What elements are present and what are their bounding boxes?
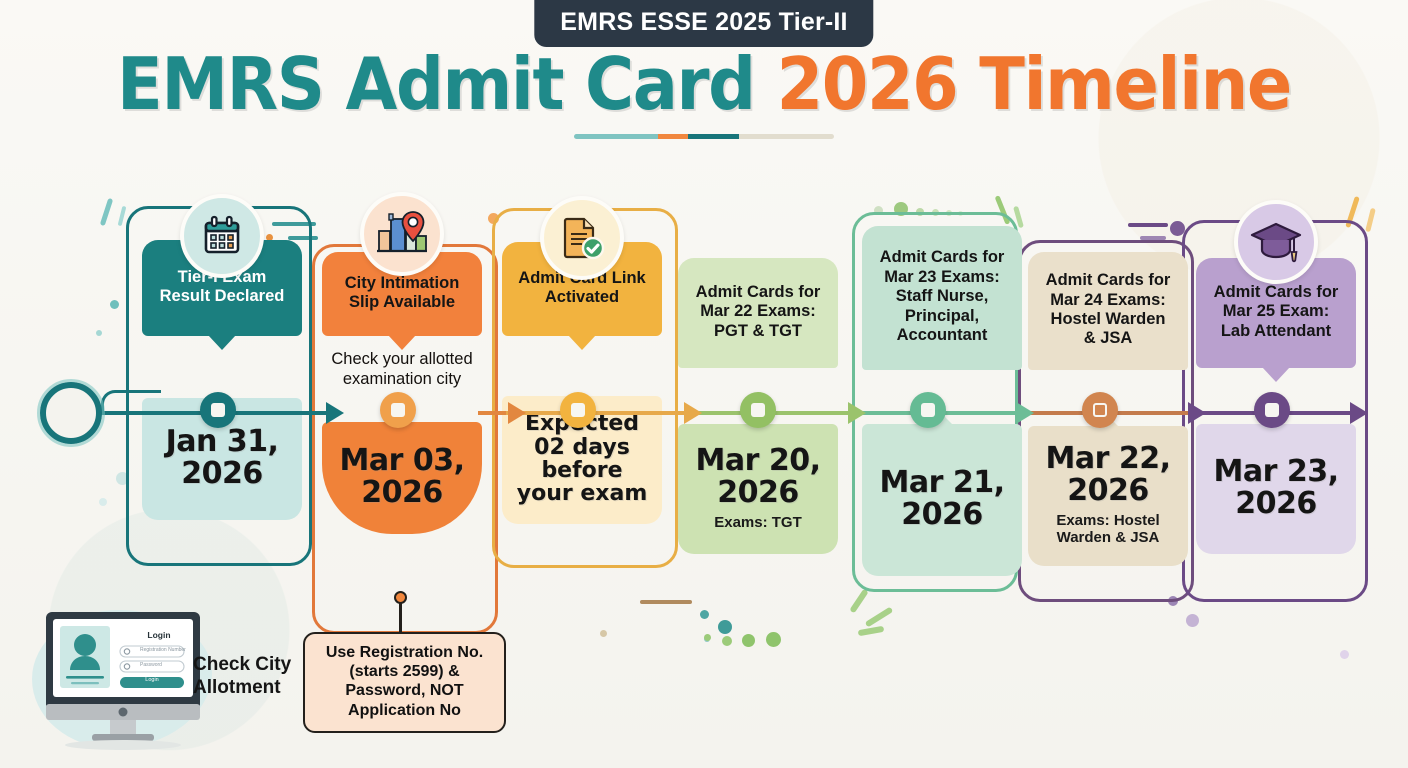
step-6-date-block: Mar 22, 2026 Exams: Hostel Warden & JSA <box>1028 426 1188 566</box>
calendar-icon <box>198 212 246 260</box>
step-4-title: Admit Cards for Mar 22 Exams: PGT & TGT <box>678 258 838 368</box>
title-divider <box>574 134 834 139</box>
rail-arrow-2 <box>508 402 526 424</box>
timeline-start-marker <box>40 382 102 444</box>
page-title: EMRS Admit Card 2026 Timeline <box>0 48 1408 139</box>
document-check-icon-bubble <box>540 196 624 280</box>
step-7-date: Mar 23, 2026 <box>1214 456 1339 520</box>
step-1-date: Jan 31, 2026 <box>166 426 279 490</box>
step-4-date-block: Mar 20, 2026 Exams: TGT <box>678 424 838 554</box>
step-6-title: Admit Cards for Mar 24 Exams: Hostel War… <box>1028 252 1188 370</box>
timeline-node-6[interactable] <box>1082 392 1118 428</box>
timeline-node-4[interactable] <box>740 392 776 428</box>
callout-connector <box>399 600 402 632</box>
graduation-cap-icon-bubble <box>1234 200 1318 284</box>
callout-anchor-dot <box>394 591 407 604</box>
check-city-allotment-label: Check City Allotment <box>193 654 291 700</box>
step-2-date: Mar 03, 2026 <box>340 445 465 509</box>
step-5-date-block: Mar 21, 2026 <box>862 424 1022 576</box>
rail-arrow-6 <box>1188 402 1206 424</box>
monitor-login-title: Login <box>131 630 187 640</box>
step-6-subnote: Exams: Hostel Warden & JSA <box>1056 512 1159 547</box>
city-pin-icon <box>375 209 429 259</box>
monitor-password-field[interactable]: Password <box>140 662 162 668</box>
step-4-date: Mar 20, 2026 <box>696 445 821 509</box>
step-4-subnote: Exams: TGT <box>714 514 802 531</box>
rail-arrow-3 <box>684 402 702 424</box>
rail-arrow-5 <box>1016 402 1034 424</box>
rail-arrow-1 <box>326 402 344 424</box>
graduation-cap-icon <box>1248 218 1304 266</box>
title-primary: EMRS Admit Card <box>117 42 777 126</box>
timeline-node-1[interactable] <box>200 392 236 428</box>
rail-arrow-4 <box>848 402 866 424</box>
registration-callout: Use Registration No. (starts 2599) & Pas… <box>303 632 506 733</box>
timeline: Tier-I Exam Result Declared Jan 31, 2026… <box>0 160 1408 610</box>
monitor-login-button[interactable]: Login <box>120 677 184 683</box>
timeline-node-5[interactable] <box>910 392 946 428</box>
step-5-title: Admit Cards for Mar 23 Exams: Staff Nurs… <box>862 226 1022 370</box>
timeline-node-3[interactable] <box>560 392 596 428</box>
step-5-date: Mar 21, 2026 <box>880 467 1005 531</box>
title-accent: 2026 Timeline <box>777 42 1291 126</box>
document-check-icon <box>557 213 607 263</box>
city-pin-icon-bubble <box>360 192 444 276</box>
rail-arrow-7 <box>1350 402 1368 424</box>
rail-segment-3 <box>506 411 702 415</box>
timeline-node-7[interactable] <box>1254 392 1290 428</box>
timeline-node-2[interactable] <box>380 392 416 428</box>
step-6-date: Mar 22, 2026 <box>1046 443 1171 507</box>
calendar-icon-bubble <box>180 194 264 278</box>
exam-badge: EMRS ESSE 2025 Tier-II <box>534 0 873 47</box>
monitor-username-field[interactable]: Registration Number <box>140 647 186 653</box>
step-7-date-block: Mar 23, 2026 <box>1196 424 1356 554</box>
